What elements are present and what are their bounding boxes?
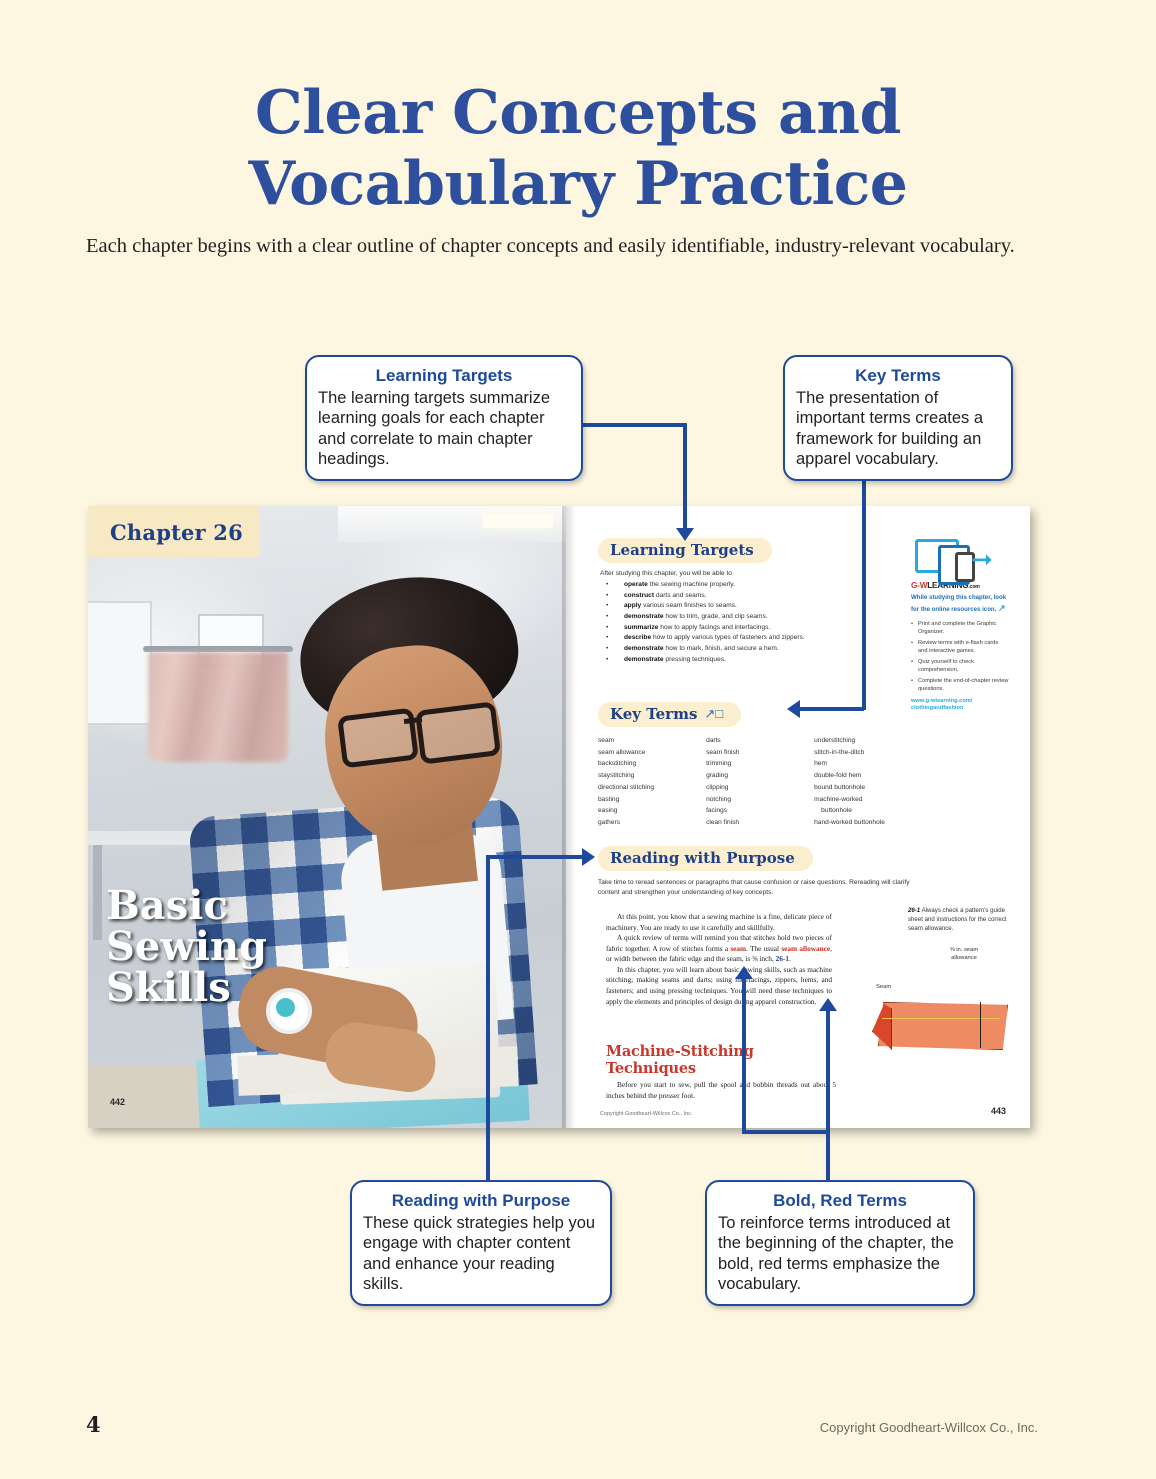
allowance-line1: ⅝ in. seam — [950, 947, 978, 953]
callout-body: To reinforce terms introduced at the beg… — [718, 1213, 962, 1294]
device-icons-group: ➞ — [911, 536, 1009, 580]
chapter-title-line3: Skills — [106, 968, 356, 1009]
learning-target-text: how to trim, grade, and clip seams. — [664, 613, 768, 620]
learning-target-verb: describe — [624, 634, 651, 641]
allowance-line2: allowance — [951, 955, 977, 961]
p2-part-d: . — [789, 954, 791, 963]
callout-title: Key Terms — [796, 365, 1000, 386]
key-term: seam allowance — [598, 747, 706, 759]
key-terms-heading: Key Terms — [610, 705, 697, 723]
callout-reading-with-purpose[interactable]: Reading with Purpose These quick strateg… — [350, 1180, 612, 1306]
arrowhead-key-terms — [787, 700, 800, 718]
figure-allowance-label: ⅝ in. seam allowance — [908, 947, 1020, 963]
gw-learning-sidebar: ➞ G-WLEARNING.com While studying this ch… — [911, 536, 1009, 713]
learning-target-text: darts and seams. — [654, 592, 706, 599]
learning-target-verb: demonstrate — [624, 613, 664, 620]
learning-target-item: operate the sewing machine properly. — [598, 580, 898, 591]
chapter-title-line1: Basic — [106, 886, 356, 927]
left-page: Chapter 26 Basic Sewing Skills 442 — [88, 506, 566, 1128]
body-text-column: At this point, you know that a sewing ma… — [606, 912, 832, 1007]
key-term: hem — [814, 758, 928, 770]
learning-target-verb: operate — [624, 581, 648, 588]
key-term: trimming — [706, 758, 814, 770]
callout-body: The learning targets summarize learning … — [318, 388, 570, 469]
key-terms-column-3: understitchingstitch-in-the-ditchhemdoub… — [814, 735, 928, 829]
learning-target-item: demonstrate how to trim, grade, and clip… — [598, 612, 898, 623]
learning-targets-intro: After studying this chapter, you will be… — [600, 570, 898, 577]
learning-target-item: demonstrate how to mark, finish, and sec… — [598, 644, 898, 655]
connector-key-terms-h — [800, 707, 864, 711]
callout-title: Reading with Purpose — [363, 1190, 599, 1211]
learning-target-item: summarize how to apply facings and inter… — [598, 623, 898, 634]
dimension-line — [980, 1002, 981, 1048]
eyeglasses-left-lens — [337, 708, 419, 769]
key-terms-columns: seamseam allowancebackstitchingstaystitc… — [598, 735, 928, 829]
section-machine-stitching: Machine-Stitching Techniques Before you … — [606, 1043, 836, 1101]
arrowhead-learning-targets — [676, 528, 694, 541]
learning-target-text: the sewing machine properly. — [648, 581, 735, 588]
figure-seam-label: Seam — [876, 984, 891, 990]
machine-stitching-body: Before you start to sew, pull the spool … — [606, 1080, 836, 1101]
key-term: clipping — [706, 782, 814, 794]
figure-26-1: 26-1 Always check a pattern's guide shee… — [908, 906, 1020, 963]
learning-targets-heading-band: Learning Targets — [598, 538, 772, 563]
intro-paragraph: Each chapter begins with a clear outline… — [86, 232, 1046, 261]
left-page-number: 442 — [110, 1097, 125, 1107]
reading-with-purpose-heading: Reading with Purpose — [610, 849, 795, 867]
gw-learning-item: Review terms with e-flash cards and inte… — [911, 639, 1009, 655]
callout-key-terms[interactable]: Key Terms The presentation of important … — [783, 355, 1013, 481]
section-learning-targets: Learning Targets After studying this cha… — [598, 538, 898, 665]
learning-target-text: pressing techniques. — [664, 656, 726, 663]
gw-learning-item: Print and complete the Graphic Organizer… — [911, 620, 1009, 636]
key-terms-column-1: seamseam allowancebackstitchingstaystitc… — [598, 735, 706, 829]
learning-target-verb: construct — [624, 592, 654, 599]
right-page-copyright: Copyright Goodheart-Willcox Co., Inc. — [600, 1111, 693, 1117]
key-term: notching — [706, 794, 814, 806]
learning-target-item: construct darts and seams. — [598, 591, 898, 602]
footer-page-number: 4 — [86, 1412, 101, 1437]
figure-caption: 26-1 Always check a pattern's guide shee… — [908, 906, 1020, 933]
key-term: basting — [598, 794, 706, 806]
key-terms-heading-band: Key Terms ↗□ — [598, 702, 741, 727]
machine-stitching-heading: Machine-Stitching Techniques — [606, 1043, 836, 1077]
connector-bold-terms-v — [826, 1010, 830, 1182]
arrowhead-bold-terms-left — [735, 966, 753, 979]
learning-target-item: describe how to apply various types of f… — [598, 633, 898, 644]
figure-number: 26-1 — [908, 907, 920, 914]
learning-target-verb: summarize — [624, 624, 658, 631]
whiteboard — [88, 601, 152, 725]
key-term: gathers — [598, 817, 706, 829]
key-term: clean finish — [706, 817, 814, 829]
table-leg — [93, 845, 102, 940]
connector-reading-purpose-h — [486, 855, 584, 859]
red-term-seam: seam — [730, 944, 746, 953]
key-term: understitching — [814, 735, 928, 747]
callout-body: The presentation of important terms crea… — [796, 388, 1000, 469]
gw-learning-item: Complete the end-of-chapter review quest… — [911, 677, 1009, 693]
key-term: easing — [598, 805, 706, 817]
callout-bold-red-terms[interactable]: Bold, Red Terms To reinforce terms intro… — [705, 1180, 975, 1306]
learning-target-text: how to apply various types of fasteners … — [651, 634, 805, 641]
key-terms-column-2: dartsseam finishtrimminggradingclippingn… — [706, 735, 814, 829]
learning-target-verb: apply — [624, 602, 641, 609]
learning-target-text: how to apply facings and interfacings. — [658, 624, 770, 631]
page-title-line2: Vocabulary Practice — [0, 149, 1156, 220]
body-paragraph-1: At this point, you know that a sewing ma… — [606, 912, 832, 933]
arrowhead-bold-terms-right — [819, 998, 837, 1011]
reading-with-purpose-body: Take time to reread sentences or paragra… — [598, 878, 928, 898]
learning-target-verb: demonstrate — [624, 656, 664, 663]
connector-learning-targets-v — [683, 423, 687, 532]
callout-title: Learning Targets — [318, 365, 570, 386]
learning-target-text: how to mark, finish, and secure a hem. — [664, 645, 779, 652]
page-title: Clear Concepts and Vocabulary Practice — [0, 78, 1156, 220]
key-term: double-fold hem — [814, 770, 928, 782]
figure-reference: 26-1 — [776, 954, 789, 963]
learning-target-item: demonstrate pressing techniques. — [598, 655, 898, 666]
body-paragraph-2: A quick review of terms will remind you … — [606, 933, 832, 965]
key-term: directional stitching — [598, 782, 706, 794]
gw-learning-item: Quiz yourself to check comprehension. — [911, 658, 1009, 674]
learning-target-verb: demonstrate — [624, 645, 664, 652]
gw-learning-url[interactable]: www.g-wlearning.com/ clothingandfashion — [911, 698, 1009, 713]
key-term: darts — [706, 735, 814, 747]
section-reading-with-purpose: Reading with Purpose Take time to reread… — [598, 846, 928, 898]
p2-part-b: . The usual — [746, 944, 781, 953]
textbook-spread-image: Chapter 26 Basic Sewing Skills 442 Learn… — [88, 506, 1030, 1128]
fabric-layer — [878, 1002, 1008, 1050]
key-term: machine-worked — [814, 794, 928, 806]
chapter-title: Basic Sewing Skills — [106, 886, 356, 1008]
red-term-seam-allowance: seam allowance — [781, 944, 830, 953]
section-key-terms: Key Terms ↗□ seamseam allowancebackstitc… — [598, 702, 928, 829]
gw-learning-intro-text: While studying this chapter, look for th… — [911, 594, 1006, 613]
arrow-right-icon: ➞ — [971, 546, 993, 572]
key-term: hand-worked buttonhole — [814, 817, 928, 829]
connector-key-terms-v — [862, 480, 866, 710]
key-term: staystitching — [598, 770, 706, 782]
key-term: backstitching — [598, 758, 706, 770]
gw-url-line2: clothingandfashion — [911, 705, 1009, 713]
learning-target-text: various seam finishes to seams. — [641, 602, 737, 609]
gw-logo-com: .com — [968, 584, 979, 590]
key-term: buttonhole — [814, 805, 928, 817]
learning-targets-heading: Learning Targets — [610, 541, 754, 559]
chapter-title-line2: Sewing — [106, 927, 356, 968]
reading-with-purpose-heading-band: Reading with Purpose — [598, 846, 813, 871]
online-resources-icon: ↗ — [998, 603, 1006, 613]
key-term: stitch-in-the-ditch — [814, 747, 928, 759]
eyeglasses-right-lens — [415, 701, 501, 764]
gw-learning-intro: While studying this chapter, look for th… — [911, 594, 1009, 615]
learning-target-item: apply various seam finishes to seams. — [598, 601, 898, 612]
key-term: seam finish — [706, 747, 814, 759]
key-term: grading — [706, 770, 814, 782]
connector-learning-targets-h — [583, 423, 687, 427]
figure-fabric-illustration — [872, 998, 1012, 1054]
connector-bold-terms-branch-h — [742, 1130, 830, 1134]
external-link-icon[interactable]: ↗□ — [704, 706, 723, 722]
footer-copyright: Copyright Goodheart-Willcox Co., Inc. — [820, 1420, 1038, 1435]
right-page-number: 443 — [991, 1106, 1006, 1116]
stitch-line — [882, 1018, 1000, 1019]
callout-learning-targets[interactable]: Learning Targets The learning targets su… — [305, 355, 583, 481]
key-term: seam — [598, 735, 706, 747]
key-term: facings — [706, 805, 814, 817]
arrowhead-reading-purpose — [582, 848, 595, 866]
page-title-line1: Clear Concepts and — [255, 78, 901, 148]
figure-caption-text: Always check a pattern's guide sheet and… — [908, 907, 1007, 932]
hanging-garments — [148, 652, 288, 762]
ceiling-light — [483, 514, 553, 528]
learning-targets-list: operate the sewing machine properly.cons… — [598, 580, 898, 665]
callout-title: Bold, Red Terms — [718, 1190, 962, 1211]
chapter-tab: Chapter 26 — [88, 506, 260, 558]
callout-body: These quick strategies help you engage w… — [363, 1213, 599, 1294]
connector-bold-terms-branch-v — [742, 978, 746, 1133]
key-term: bound buttonhole — [814, 782, 928, 794]
gw-url-line1: www.g-wlearning.com/ — [911, 698, 1009, 706]
gw-logo-gw: G-W — [911, 581, 927, 590]
connector-reading-purpose-v — [486, 858, 490, 1180]
right-page: Learning Targets After studying this cha… — [576, 506, 1030, 1128]
gw-learning-list: Print and complete the Graphic Organizer… — [911, 620, 1009, 694]
body-paragraph-3: In this chapter, you will learn about ba… — [606, 965, 832, 1007]
chapter-tab-label: Chapter 26 — [88, 520, 243, 545]
